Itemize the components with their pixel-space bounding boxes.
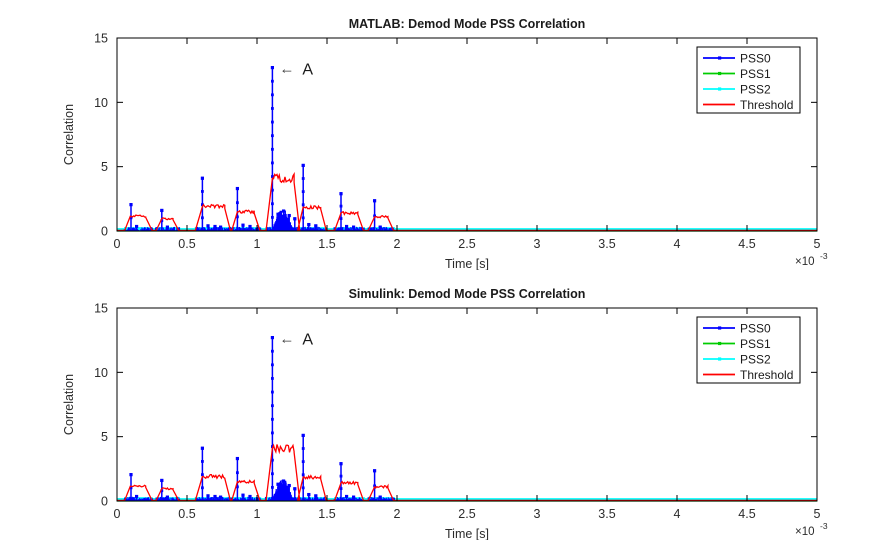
x-tick-label: 2.5 — [458, 507, 475, 521]
x-axis-exponent-power: -3 — [820, 521, 828, 531]
annotation-label-a: A — [302, 332, 313, 349]
y-tick-label: 0 — [101, 495, 108, 509]
y-axis-label: Correlation — [62, 374, 76, 435]
x-tick-label: 3 — [534, 507, 541, 521]
legend-item-pss0: PSS0 — [740, 52, 771, 66]
legend-item-pss0: PSS0 — [740, 322, 771, 336]
x-tick-label: 0.5 — [178, 507, 195, 521]
y-tick-label: 15 — [94, 302, 108, 316]
y-tick-label: 5 — [101, 430, 108, 444]
matlab-figure-window: MATLAB: Demod Mode PSS Correlation00.511… — [0, 0, 895, 540]
plot-canvas-matlab: MATLAB: Demod Mode PSS Correlation00.511… — [0, 0, 895, 270]
legend-item-pss1: PSS1 — [740, 67, 771, 81]
x-tick-label: 4.5 — [738, 237, 755, 251]
y-tick-label: 10 — [94, 96, 108, 110]
subplot-simulink: Simulink: Demod Mode PSS Correlation00.5… — [0, 270, 895, 540]
x-tick-label: 1 — [254, 507, 261, 521]
y-tick-label: 10 — [94, 366, 108, 380]
annotation-label-a: A — [302, 62, 313, 79]
x-tick-label: 1.5 — [318, 237, 335, 251]
legend[interactable]: PSS0PSS1PSS2Threshold — [697, 317, 800, 383]
x-tick-label: 0 — [114, 507, 121, 521]
x-tick-label: 3 — [534, 237, 541, 251]
subplot-matlab: MATLAB: Demod Mode PSS Correlation00.511… — [0, 0, 895, 270]
plot-title: Simulink: Demod Mode PSS Correlation — [349, 287, 586, 301]
x-tick-label: 2.5 — [458, 237, 475, 251]
annotation-arrow-icon: ← — [279, 331, 294, 348]
x-tick-label: 5 — [814, 507, 821, 521]
x-tick-label: 3.5 — [598, 507, 615, 521]
x-tick-label: 2 — [394, 507, 401, 521]
x-tick-label: 0 — [114, 237, 121, 251]
x-tick-label: 2 — [394, 237, 401, 251]
x-tick-label: 3.5 — [598, 237, 615, 251]
y-tick-label: 0 — [101, 225, 108, 239]
x-tick-label: 1 — [254, 237, 261, 251]
x-axis-exponent-power: -3 — [820, 251, 828, 261]
plot-canvas-simulink: Simulink: Demod Mode PSS Correlation00.5… — [0, 270, 895, 540]
legend-item-pss1: PSS1 — [740, 337, 771, 351]
x-tick-label: 4 — [674, 237, 681, 251]
x-tick-label: 4.5 — [738, 507, 755, 521]
legend[interactable]: PSS0PSS1PSS2Threshold — [697, 47, 800, 113]
x-axis-exponent: ×10 — [795, 256, 815, 268]
x-tick-label: 0.5 — [178, 237, 195, 251]
legend-item-pss2: PSS2 — [740, 83, 771, 97]
y-tick-label: 15 — [94, 32, 108, 46]
legend-item-pss2: PSS2 — [740, 353, 771, 367]
legend-item-threshold: Threshold — [740, 368, 793, 382]
x-axis-label: Time [s] — [445, 527, 489, 540]
y-tick-label: 5 — [101, 160, 108, 174]
x-tick-label: 4 — [674, 507, 681, 521]
x-tick-label: 5 — [814, 237, 821, 251]
plot-title: MATLAB: Demod Mode PSS Correlation — [349, 17, 586, 31]
annotation-arrow-icon: ← — [279, 61, 294, 78]
x-tick-label: 1.5 — [318, 507, 335, 521]
x-axis-label: Time [s] — [445, 257, 489, 270]
x-axis-exponent: ×10 — [795, 526, 815, 538]
y-axis-label: Correlation — [62, 104, 76, 165]
legend-item-threshold: Threshold — [740, 98, 793, 112]
